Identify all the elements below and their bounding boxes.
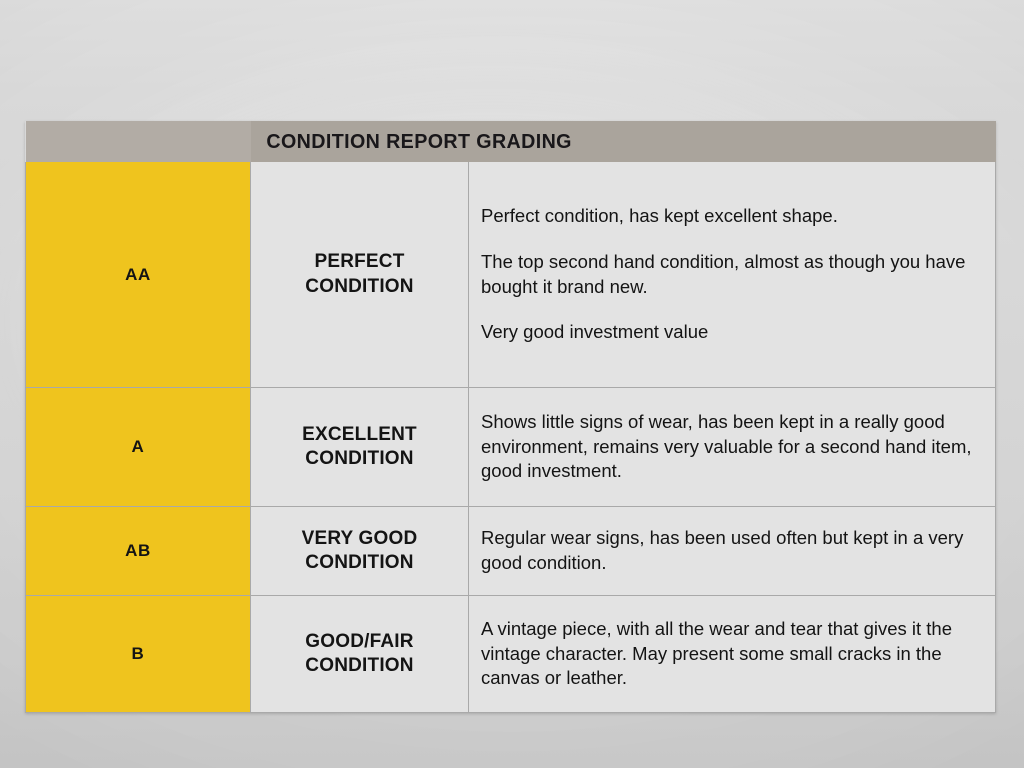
grade-code-ab: AB xyxy=(26,507,251,596)
condition-title-b-line2: CONDITION xyxy=(305,655,413,676)
table-header-row: CONDITION REPORT GRADING xyxy=(26,121,996,162)
header-blank-cell xyxy=(26,121,251,162)
condition-title-aa-line1: PERFECT xyxy=(314,251,404,272)
table-row-aa: AA PERFECT CONDITION Perfect condition, … xyxy=(26,162,996,388)
description-paragraph: Shows little signs of wear, has been kep… xyxy=(481,410,981,484)
condition-title-a-line2: CONDITION xyxy=(305,448,413,469)
condition-description-b: A vintage piece, with all the wear and t… xyxy=(469,596,996,713)
condition-title-b: GOOD/FAIR CONDITION xyxy=(251,596,469,713)
condition-description-a: Shows little signs of wear, has been kep… xyxy=(469,388,996,507)
grade-code-b: B xyxy=(26,596,251,713)
grade-code-aa: AA xyxy=(26,162,251,388)
table-title-text: CONDITION REPORT GRADING xyxy=(251,130,966,154)
description-paragraph: Perfect condition, has kept excellent sh… xyxy=(481,204,981,229)
photo-surface: CONDITION REPORT GRADING AA PERFECT COND… xyxy=(0,0,1024,768)
condition-title-b-line1: GOOD/FAIR xyxy=(305,631,413,652)
table-row-a: A EXCELLENT CONDITION Shows little signs… xyxy=(26,388,996,507)
condition-title-a: EXCELLENT CONDITION xyxy=(251,388,469,507)
condition-report-grading-table: CONDITION REPORT GRADING AA PERFECT COND… xyxy=(25,121,996,713)
table-row-b: B GOOD/FAIR CONDITION A vintage piece, w… xyxy=(26,596,996,713)
condition-title-ab-line1: VERY GOOD xyxy=(302,528,418,549)
condition-title-aa-line2: CONDITION xyxy=(305,276,413,297)
description-paragraph: The top second hand condition, almost as… xyxy=(481,250,981,300)
condition-description-aa: Perfect condition, has kept excellent sh… xyxy=(469,162,996,388)
condition-title-aa: PERFECT CONDITION xyxy=(251,162,469,388)
condition-title-ab: VERY GOOD CONDITION xyxy=(251,507,469,596)
grade-code-a: A xyxy=(26,388,251,507)
table-row-ab: AB VERY GOOD CONDITION Regular wear sign… xyxy=(26,507,996,596)
condition-title-a-line1: EXCELLENT xyxy=(302,424,417,445)
condition-description-ab: Regular wear signs, has been used often … xyxy=(469,507,996,596)
condition-title-ab-line2: CONDITION xyxy=(305,552,413,573)
description-paragraph: Very good investment value xyxy=(481,320,981,345)
table-title-cell: CONDITION REPORT GRADING xyxy=(251,121,996,162)
description-paragraph: Regular wear signs, has been used often … xyxy=(481,526,981,576)
description-paragraph: A vintage piece, with all the wear and t… xyxy=(481,617,981,691)
